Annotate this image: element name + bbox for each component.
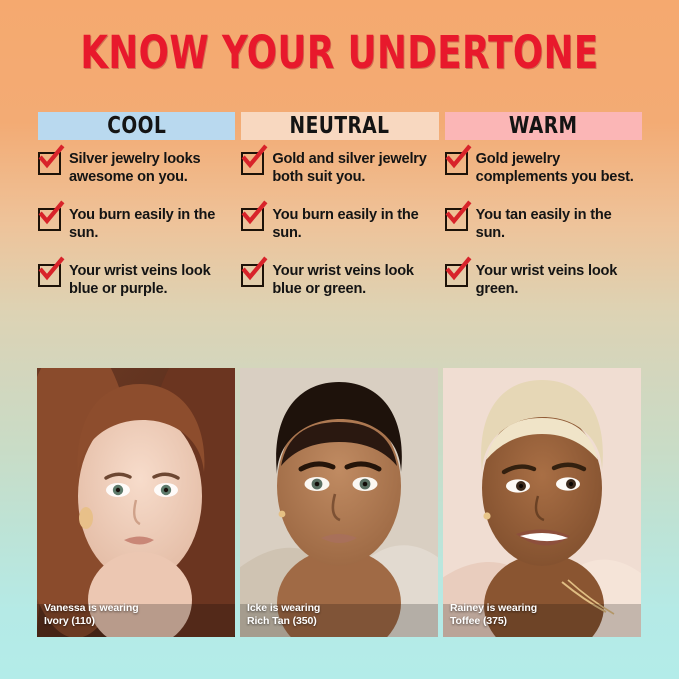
checkbox-icon[interactable] bbox=[241, 208, 264, 231]
checkbox-icon[interactable] bbox=[445, 264, 468, 287]
checklist-column-neutral: Gold and silver jewelry both suit you. Y… bbox=[241, 150, 438, 299]
checkbox-icon[interactable] bbox=[38, 152, 61, 175]
check-icon bbox=[38, 257, 64, 283]
checkbox-icon[interactable] bbox=[241, 264, 264, 287]
checklist-item-label: Gold and silver jewelry both suit you. bbox=[272, 150, 438, 186]
checkbox-icon[interactable] bbox=[241, 152, 264, 175]
infographic-root: KNOW YOUR UNDERTONE COOL NEUTRAL WARM Si… bbox=[0, 0, 679, 679]
checklist-item[interactable]: Your wrist veins look blue or green. bbox=[241, 262, 438, 298]
checklist-item-label: Your wrist veins look green. bbox=[476, 262, 642, 298]
check-icon bbox=[38, 201, 64, 227]
checkbox-icon[interactable] bbox=[445, 208, 468, 231]
checklist-item-label: Your wrist veins look blue or purple. bbox=[69, 262, 235, 298]
model-portrait-image bbox=[443, 368, 641, 637]
column-header-bars: COOL NEUTRAL WARM bbox=[38, 112, 642, 140]
checkbox-icon[interactable] bbox=[38, 208, 61, 231]
photo-caption-line1: Rainey is wearing bbox=[450, 602, 537, 615]
photo-caption-line2: Ivory (110) bbox=[44, 615, 139, 628]
checklist-item[interactable]: Silver jewelry looks awesome on you. bbox=[38, 150, 235, 186]
check-icon bbox=[241, 257, 267, 283]
checklist-item-label: You tan easily in the sun. bbox=[476, 206, 642, 242]
page-title: KNOW YOUR UNDERTONE bbox=[41, 30, 639, 75]
column-header-label: NEUTRAL bbox=[290, 113, 390, 139]
checklist-item-label: Gold jewelry complements you best. bbox=[476, 150, 642, 186]
checklist-item-label: You burn easily in the sun. bbox=[69, 206, 235, 242]
photo-caption-line2: Toffee (375) bbox=[450, 615, 537, 628]
column-header-warm: WARM bbox=[445, 112, 642, 140]
photo-caption: Vanessa is wearing Ivory (110) bbox=[44, 602, 139, 628]
column-header-cool: COOL bbox=[38, 112, 235, 140]
check-icon bbox=[241, 201, 267, 227]
check-icon bbox=[445, 201, 471, 227]
checklist-item[interactable]: You burn easily in the sun. bbox=[38, 206, 235, 242]
model-photo-vanessa[interactable]: Vanessa is wearing Ivory (110) bbox=[37, 368, 235, 637]
checklist-item[interactable]: You burn easily in the sun. bbox=[241, 206, 438, 242]
check-icon bbox=[241, 145, 267, 171]
column-header-neutral: NEUTRAL bbox=[241, 112, 438, 140]
column-header-label: COOL bbox=[107, 113, 166, 139]
model-photo-strip: Vanessa is wearing Ivory (110) bbox=[37, 368, 641, 637]
model-portrait-image bbox=[37, 368, 235, 637]
check-icon bbox=[445, 145, 471, 171]
checklist-column-warm: Gold jewelry complements you best. You t… bbox=[445, 150, 642, 299]
checklist-item[interactable]: Gold jewelry complements you best. bbox=[445, 150, 642, 186]
photo-caption: Rainey is wearing Toffee (375) bbox=[450, 602, 537, 628]
checklist-item[interactable]: You tan easily in the sun. bbox=[445, 206, 642, 242]
check-icon bbox=[38, 145, 64, 171]
check-icon bbox=[445, 257, 471, 283]
photo-caption-line1: Icke is wearing bbox=[247, 602, 320, 615]
checklist-item-label: You burn easily in the sun. bbox=[272, 206, 438, 242]
checkbox-icon[interactable] bbox=[445, 152, 468, 175]
checklist-columns: Silver jewelry looks awesome on you. You… bbox=[38, 150, 642, 299]
photo-caption-line1: Vanessa is wearing bbox=[44, 602, 139, 615]
model-photo-rainey[interactable]: Rainey is wearing Toffee (375) bbox=[443, 368, 641, 637]
model-portrait-image bbox=[240, 368, 438, 637]
photo-caption-line2: Rich Tan (350) bbox=[247, 615, 320, 628]
column-header-label: WARM bbox=[509, 113, 578, 139]
checklist-item[interactable]: Your wrist veins look blue or purple. bbox=[38, 262, 235, 298]
photo-caption: Icke is wearing Rich Tan (350) bbox=[247, 602, 320, 628]
checklist-column-cool: Silver jewelry looks awesome on you. You… bbox=[38, 150, 235, 299]
model-photo-icke[interactable]: Icke is wearing Rich Tan (350) bbox=[240, 368, 438, 637]
checklist-item[interactable]: Your wrist veins look green. bbox=[445, 262, 642, 298]
checklist-item-label: Your wrist veins look blue or green. bbox=[272, 262, 438, 298]
checklist-item[interactable]: Gold and silver jewelry both suit you. bbox=[241, 150, 438, 186]
checklist-item-label: Silver jewelry looks awesome on you. bbox=[69, 150, 235, 186]
checkbox-icon[interactable] bbox=[38, 264, 61, 287]
